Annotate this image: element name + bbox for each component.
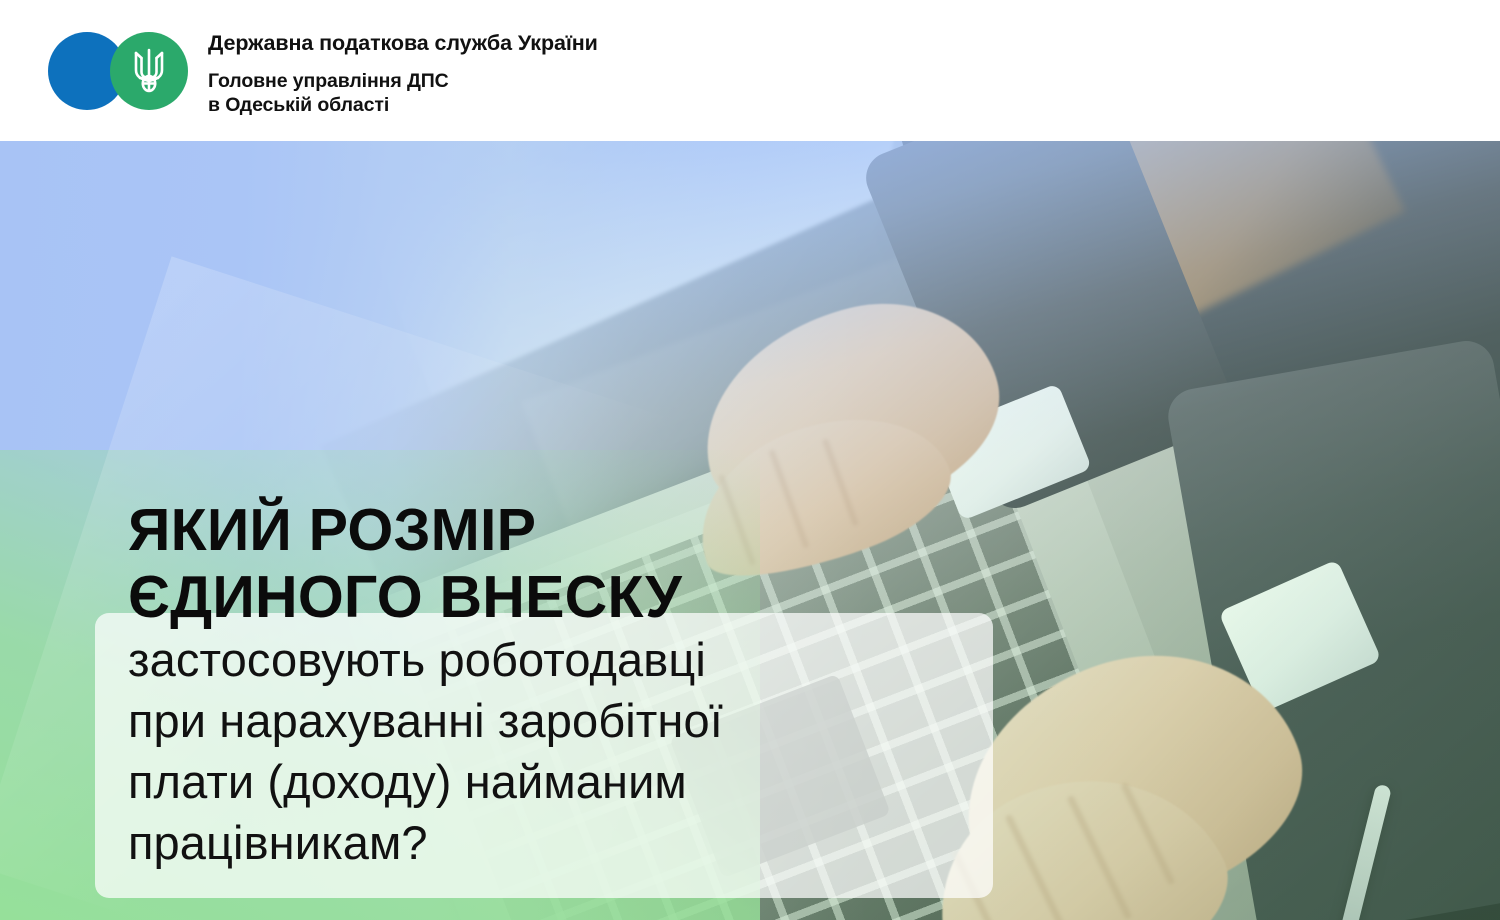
organization-subtitle-line-1: Головне управління ДПС — [208, 70, 449, 92]
body-line-4: працівникам? — [128, 812, 1008, 873]
body-question-text: застосовують роботодавці при нарахуванні… — [128, 629, 1008, 873]
headline-line-2: ЄДИНОГО ВНЕСКУ — [128, 564, 908, 631]
agency-logo — [48, 32, 200, 109]
poster: Державна податкова служба України Головн… — [0, 0, 1500, 920]
body-line-3: плати (доходу) найманим — [128, 751, 1008, 812]
page-title: ЯКИЙ РОЗМІР ЄДИНОГО ВНЕСКУ — [128, 497, 908, 632]
organization-title: Державна податкова служба України — [208, 31, 908, 56]
ukraine-trident-icon — [110, 32, 188, 110]
header-bar: Державна податкова служба України Головн… — [0, 0, 1500, 141]
header-text-block: Державна податкова служба України Головн… — [208, 31, 908, 117]
body-line-1: застосовують роботодавці — [128, 629, 1008, 690]
organization-subtitle: Головне управління ДПС в Одеській област… — [208, 70, 908, 118]
headline-line-1: ЯКИЙ РОЗМІР — [128, 497, 908, 564]
organization-subtitle-line-2: в Одеській області — [208, 94, 389, 116]
body-line-2: при нарахуванні заробітної — [128, 690, 1008, 751]
hero-banner: ЯКИЙ РОЗМІР ЄДИНОГО ВНЕСКУ застосовують … — [0, 141, 1500, 920]
